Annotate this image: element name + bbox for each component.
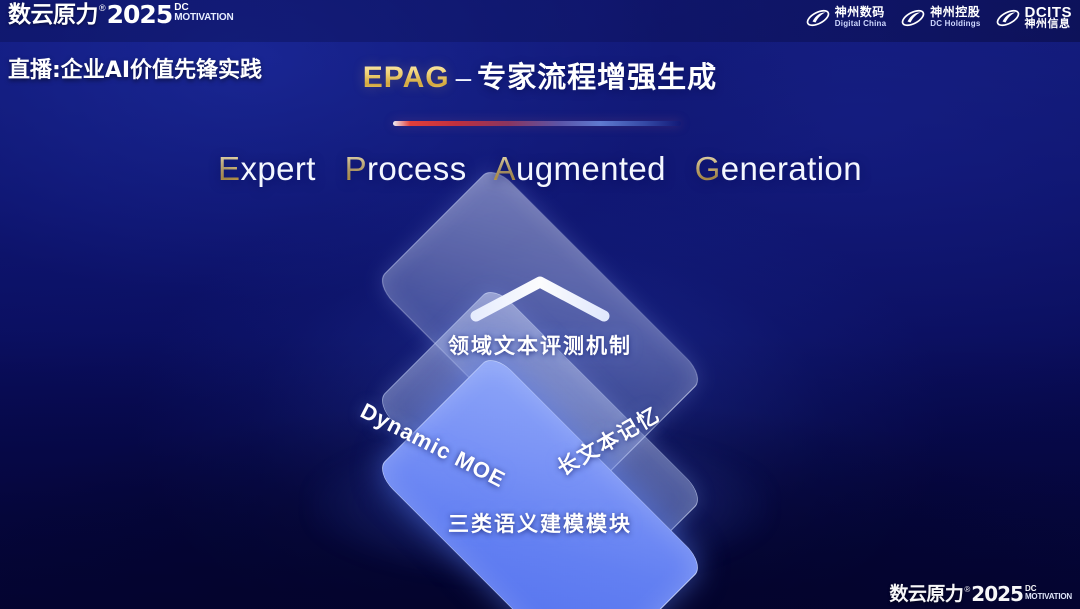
partner-name-cn: 神州数码 [835,7,887,18]
brand-dc-motivation: DC MOTIVATION [174,3,233,23]
subtitle-space [325,150,335,187]
spiral-swoosh-icon [805,6,831,30]
partner-logo-dc-holdings[interactable]: 神州控股 DC Holdings [896,4,984,32]
spiral-swoosh-icon [995,6,1021,30]
title-divider [393,121,681,126]
title-acronym: EPAG [363,61,450,94]
subtitle-cap-p: P [345,150,367,187]
subtitle-rest-expert: xpert [240,150,315,187]
title-name-cn: 专家流程增强生成 [477,60,717,94]
brand-registered-mark: ® [99,2,106,14]
subtitle-space [676,150,686,187]
subtitle-word-augmented: Augmented [494,150,666,187]
brand-name-cn: 数云原力 [8,2,98,28]
title-dash: – [456,62,472,93]
spiral-swoosh-icon [900,6,926,30]
partner-name-en: Digital China [835,18,887,29]
watermark-registered-mark: ® [964,584,970,596]
subtitle-word-process: Process [345,150,467,187]
brand-logo: 数云原力 ® 2025 DC MOTIVATION [8,2,234,28]
subtitle-word-expert: Expert [218,150,316,187]
partner-name-cn: 神州控股 [930,7,980,18]
subtitle: Expert Process Augmented Generation [0,150,1080,188]
watermark-dc-motivation: DC MOTIVATION [1025,585,1072,601]
subtitle-word-generation: Generation [695,150,862,187]
partner-logo-text: 神州信息 DCITS [1025,7,1073,29]
partner-logo-dcits[interactable]: 神州信息 DCITS [991,4,1077,32]
partner-logo-text: 神州数码 Digital China [835,7,887,29]
partner-logo-digital-china[interactable]: 神州数码 Digital China [801,4,891,32]
subtitle-cap-g: G [695,150,721,187]
layer-top-label: 领域文本评测机制 [0,330,1080,360]
watermark-year: 2025 [971,584,1023,605]
partner-name-cn: 神州信息 [1025,18,1073,29]
subtitle-cap-e: E [218,150,240,187]
subtitle-rest-generation: eneration [721,150,862,187]
layer-bottom-label: 三类语义建模模块 [0,508,1080,538]
live-stream-title: 直播:企业AI价值先锋实践 [8,52,262,84]
subtitle-rest-process: rocess [367,150,467,187]
subtitle-rest-augmented: ugmented [516,150,666,187]
subtitle-space [476,150,486,187]
brand-year: 2025 [107,2,173,28]
partner-logo-text: 神州控股 DC Holdings [930,7,980,29]
watermark-name-cn: 数云原力 [889,584,963,605]
watermark-logo: 数云原力 ® 2025 DC MOTIVATION [889,584,1072,605]
subtitle-cap-a: A [494,150,516,187]
partner-name-en: DC Holdings [930,18,980,29]
slide-canvas: 领域文本评测机制 Dynamic MOE 长文本记忆 三类语义建模模块 数云原力… [0,0,1080,609]
partner-logo-group: 神州数码 Digital China 神州控股 DC Holdings 神州信息… [801,4,1076,32]
watermark-motivation-label: MOTIVATION [1025,593,1072,601]
brand-motivation-label: MOTIVATION [174,13,233,23]
